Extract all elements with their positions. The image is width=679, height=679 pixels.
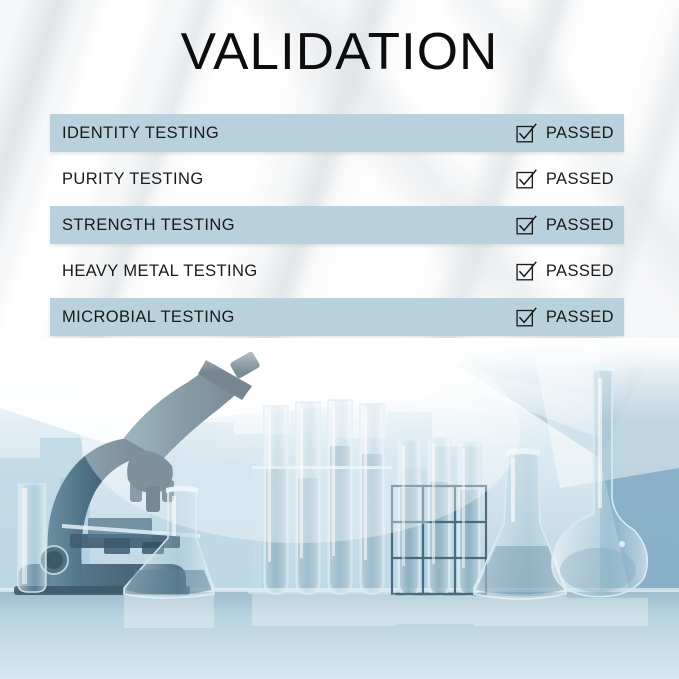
table-row[interactable]: HEAVY METAL TESTING PASSED [50, 252, 624, 290]
checked-box-icon[interactable] [516, 123, 537, 144]
status-badge: PASSED [516, 160, 614, 198]
row-label: STRENGTH TESTING [62, 216, 235, 235]
graduated-cylinder [18, 484, 46, 592]
checked-box-icon[interactable] [516, 261, 537, 282]
status-text: PASSED [546, 308, 614, 327]
row-label: MICROBIAL TESTING [62, 308, 235, 327]
page-title: VALIDATION [0, 22, 679, 82]
laboratory-glassware-photo [0, 338, 679, 679]
validation-infographic: VALIDATION IDENTITY TESTING PASSED PURIT… [0, 0, 679, 679]
status-badge: PASSED [516, 114, 614, 152]
validation-table: IDENTITY TESTING PASSED PURITY TESTING [50, 114, 624, 344]
status-badge: PASSED [516, 206, 614, 244]
status-badge: PASSED [516, 252, 614, 290]
status-badge: PASSED [516, 298, 614, 336]
table-row[interactable]: MICROBIAL TESTING PASSED [50, 298, 624, 336]
status-text: PASSED [546, 216, 614, 235]
checked-box-icon[interactable] [516, 169, 537, 190]
table-row[interactable]: STRENGTH TESTING PASSED [50, 206, 624, 244]
status-text: PASSED [546, 262, 614, 281]
status-text: PASSED [546, 124, 614, 143]
status-text: PASSED [546, 170, 614, 189]
row-label: IDENTITY TESTING [62, 124, 219, 143]
checked-box-icon[interactable] [516, 215, 537, 236]
row-label: PURITY TESTING [62, 170, 204, 189]
table-row[interactable]: PURITY TESTING PASSED [50, 160, 624, 198]
row-label: HEAVY METAL TESTING [62, 262, 258, 281]
table-row[interactable]: IDENTITY TESTING PASSED [50, 114, 624, 152]
checked-box-icon[interactable] [516, 307, 537, 328]
